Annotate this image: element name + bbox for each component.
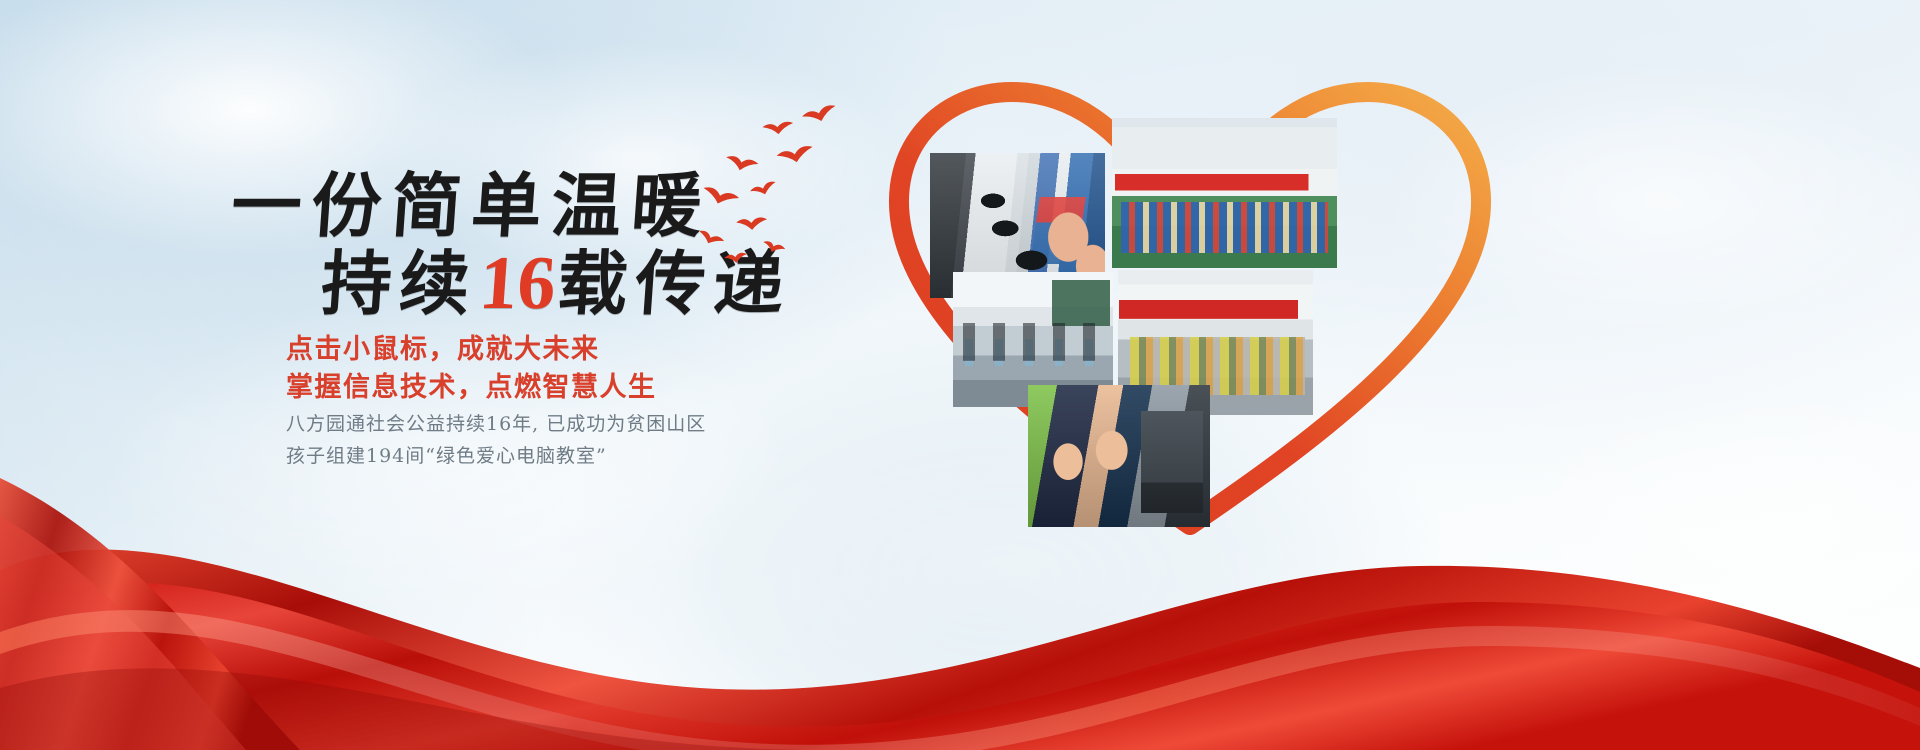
headline-year-number: 16 (475, 241, 561, 325)
banner-stage: 一份简单温暖 持续16载传递 点击小鼠标，成就大未来 掌握信息技术，点燃智慧人生… (0, 0, 1920, 750)
red-silk-ribbon (0, 420, 1920, 750)
subtitle-line-2: 掌握信息技术，点燃智慧人生 (286, 368, 657, 406)
photo-schoolyard-group (1112, 118, 1337, 268)
subtitle-group: 点击小鼠标，成就大未来 掌握信息技术，点燃智慧人生 (286, 330, 657, 406)
headline-prefix: 持续 (319, 242, 481, 325)
subtitle-line-1: 点击小鼠标，成就大未来 (286, 330, 657, 368)
photo-fill (1112, 118, 1337, 268)
